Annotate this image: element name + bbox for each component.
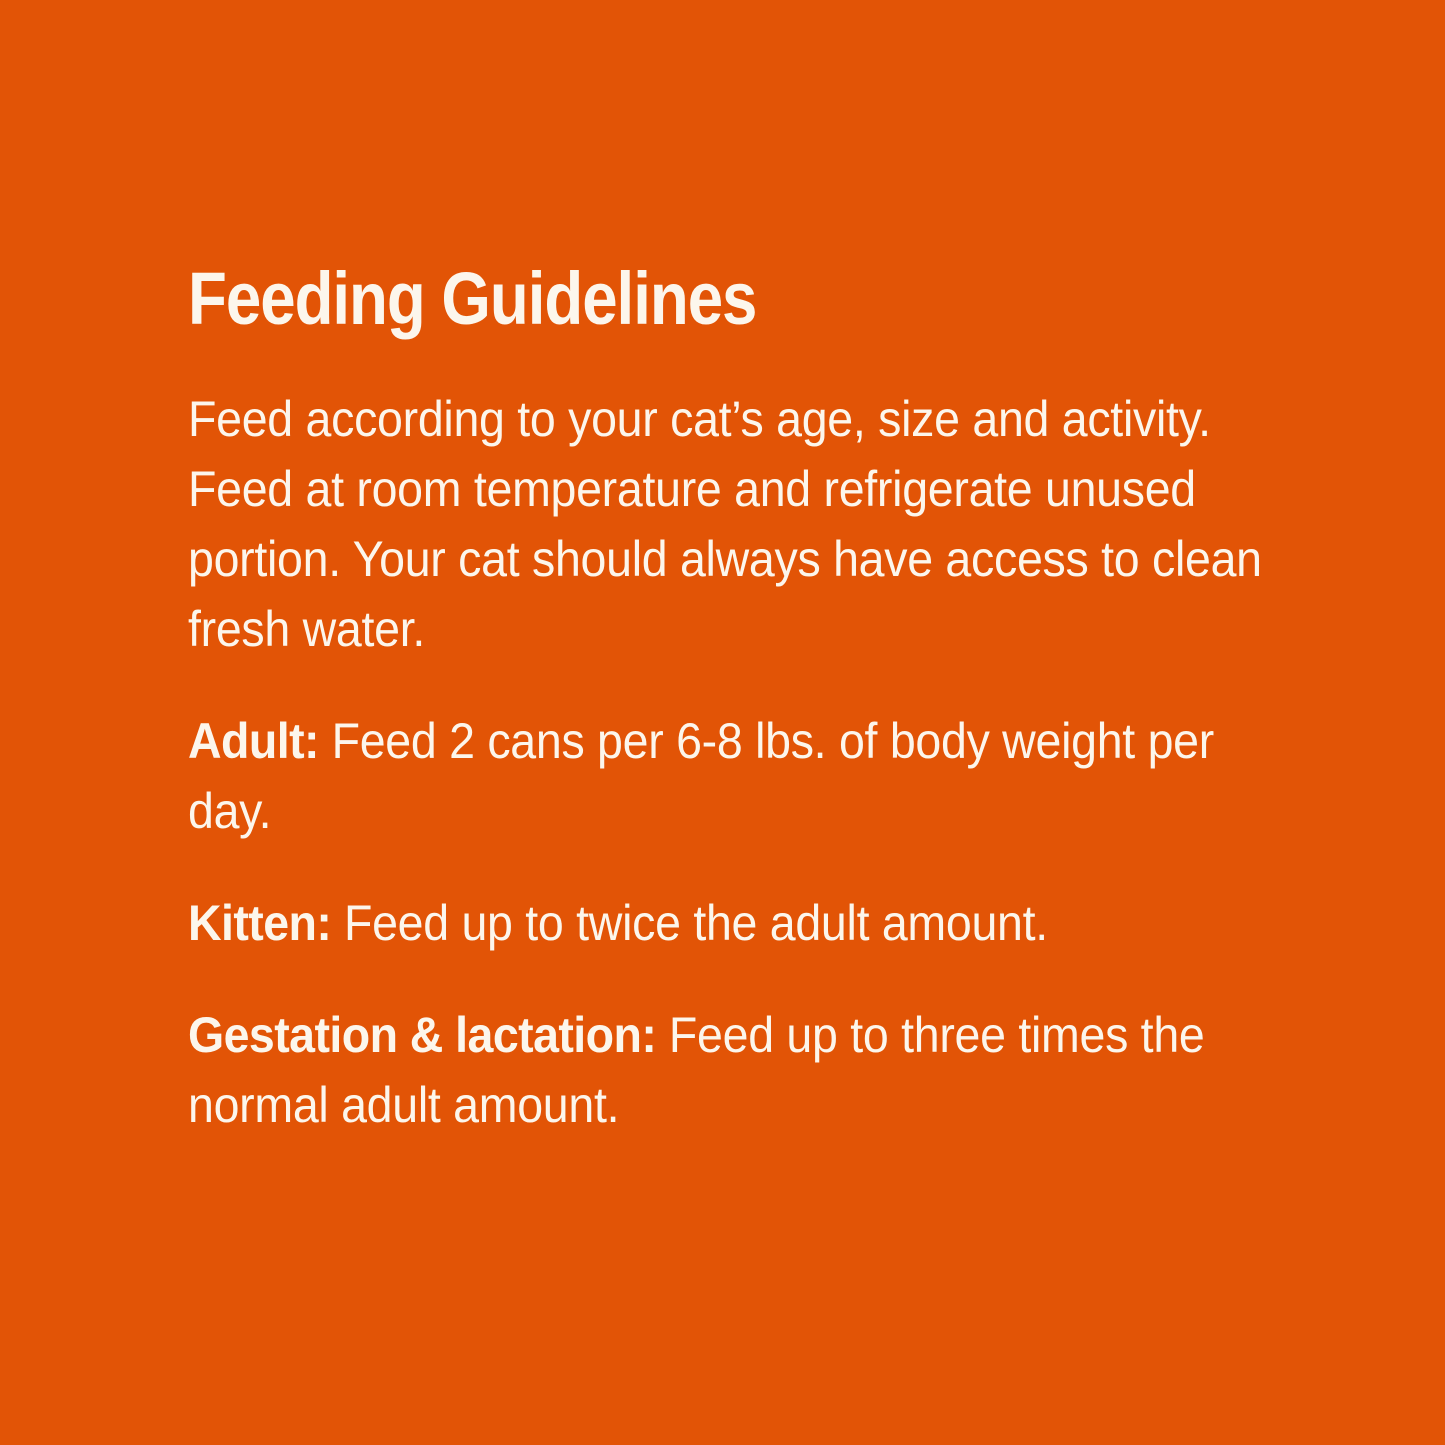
feeding-guidelines-panel: Feeding Guidelines Feed according to you… — [0, 0, 1445, 1445]
adult-paragraph: Adult: Feed 2 cans per 6-8 lbs. of body … — [188, 706, 1267, 846]
intro-paragraph: Feed according to your cat’s age, size a… — [188, 384, 1267, 664]
gestation-paragraph: Gestation & lactation: Feed up to three … — [188, 1000, 1267, 1140]
kitten-text: Feed up to twice the adult amount. — [331, 895, 1048, 951]
content-block: Feeding Guidelines Feed according to you… — [188, 262, 1266, 1140]
page-title: Feeding Guidelines — [188, 262, 1115, 336]
kitten-paragraph: Kitten: Feed up to twice the adult amoun… — [188, 888, 1267, 958]
kitten-label: Kitten: — [188, 895, 331, 951]
gestation-label: Gestation & lactation: — [188, 1007, 656, 1063]
adult-label: Adult: — [188, 713, 319, 769]
adult-text: Feed 2 cans per 6-8 lbs. of body weight … — [188, 713, 1214, 839]
